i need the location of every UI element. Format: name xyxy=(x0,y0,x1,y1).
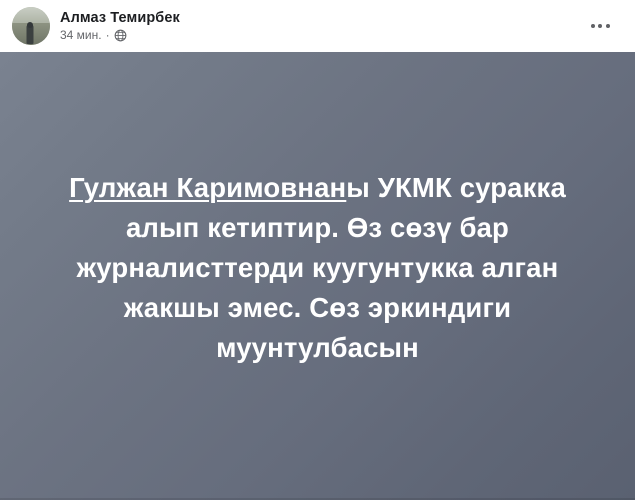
tagged-person-link[interactable]: Гулжан Каримовнан xyxy=(69,172,346,203)
menu-dot xyxy=(606,24,610,28)
post-author-meta: Алмаз Темирбек 34 мин. · xyxy=(60,10,621,43)
post-text: Гулжан Каримовнаны УКМК суракка алып кет… xyxy=(46,168,589,368)
avatar[interactable] xyxy=(12,7,50,45)
globe-icon[interactable] xyxy=(114,29,127,42)
meta-separator: · xyxy=(106,28,110,43)
social-post-card: Алмаз Темирбек 34 мин. · Г xyxy=(0,0,635,500)
avatar-photo-head xyxy=(27,22,33,28)
avatar-photo-sky xyxy=(12,7,50,23)
ellipsis-horizontal-icon[interactable] xyxy=(585,11,615,41)
post-timestamp[interactable]: 34 мин. xyxy=(60,28,102,43)
author-name[interactable]: Алмаз Темирбек xyxy=(60,10,621,27)
menu-dot xyxy=(591,24,595,28)
menu-dot xyxy=(598,24,602,28)
post-meta-row: 34 мин. · xyxy=(60,28,621,43)
post-background-body: Гулжан Каримовнаны УКМК суракка алып кет… xyxy=(0,52,635,500)
post-header: Алмаз Темирбек 34 мин. · xyxy=(0,0,635,52)
